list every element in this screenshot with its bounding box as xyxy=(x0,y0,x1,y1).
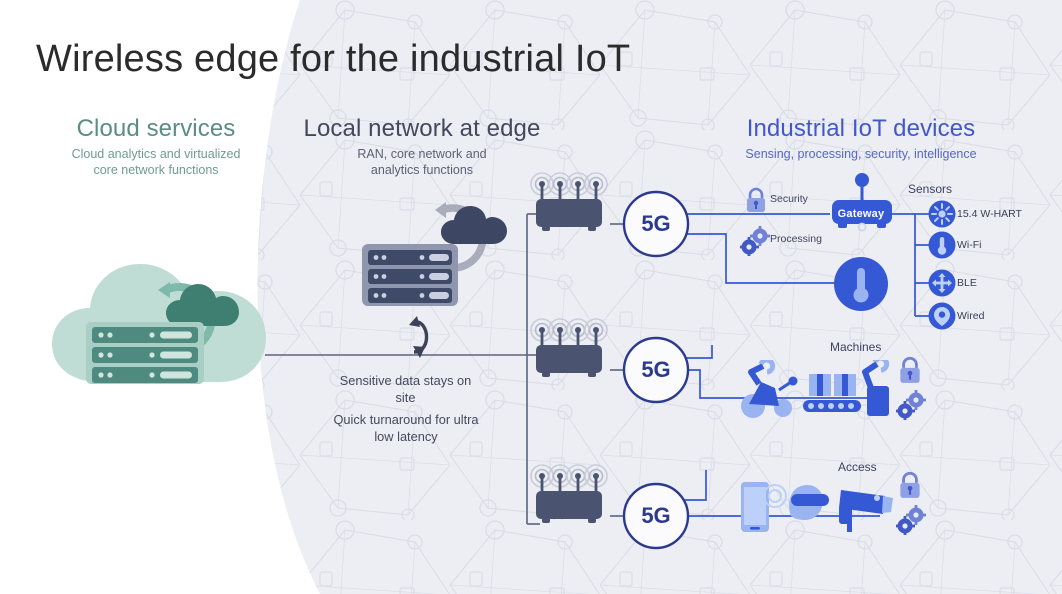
edge-server-rack xyxy=(362,244,458,306)
security-label: Security xyxy=(770,193,808,205)
cloud-services-graphic xyxy=(48,252,280,392)
security-camera-icon xyxy=(839,490,893,532)
location-pin-icon[interactable] xyxy=(928,302,956,330)
vr-headset-icon xyxy=(789,485,829,520)
group-label-sensors: Sensors xyxy=(908,182,952,196)
edge-server-graphic xyxy=(350,196,510,326)
base-station-1[interactable] xyxy=(530,172,614,234)
page-title: Wireless edge for the industrial IoT xyxy=(36,38,630,81)
base-station-3[interactable] xyxy=(530,464,614,526)
gears-icon-machines xyxy=(896,390,928,420)
radio-node-5g-1-label: 5G xyxy=(626,211,686,237)
gears-icon-access xyxy=(896,505,928,535)
conveyor-icon xyxy=(803,374,861,412)
bidirectional-arrow-icon xyxy=(404,312,450,360)
column-heading-cloud: Cloud services xyxy=(26,115,286,143)
move-arrows-icon[interactable] xyxy=(928,269,956,297)
note-low-latency: Quick turnaround for ultra low latency xyxy=(330,411,482,445)
sensor-label-3: Wired xyxy=(957,310,984,322)
antenna-signal-icons xyxy=(531,465,607,494)
gears-icon xyxy=(740,226,772,256)
group-label-access: Access xyxy=(838,460,877,474)
column-subheading-local: RAN, core network and analytics function… xyxy=(292,146,552,178)
thermometer-icon[interactable] xyxy=(928,231,956,259)
note-sensitive-data: Sensitive data stays on site xyxy=(333,372,478,406)
robot-arm-icon-2 xyxy=(865,360,889,416)
thermometer-node-icon[interactable] xyxy=(833,256,889,312)
gateway-device[interactable] xyxy=(826,172,898,234)
access-graphic[interactable] xyxy=(735,476,895,538)
diagram-canvas: 5G 5G 5G Gateway xyxy=(0,0,1062,594)
base-station-2[interactable] xyxy=(530,318,614,380)
sensor-label-1: Wi-Fi xyxy=(957,239,982,251)
radiate-icon[interactable] xyxy=(928,200,956,228)
machines-graphic[interactable] xyxy=(735,360,895,422)
robot-arm-icon xyxy=(741,360,798,418)
sensor-label-2: BLE xyxy=(957,277,977,289)
processing-label: Processing xyxy=(770,233,822,245)
column-subheading-cloud: Cloud analytics and virtualized core net… xyxy=(26,146,286,178)
column-heading-devices: Industrial IoT devices xyxy=(706,115,1016,143)
cloud-server-rack xyxy=(86,322,204,384)
gateway-label: Gateway xyxy=(833,208,889,220)
antenna-signal-icons xyxy=(531,319,607,348)
sensor-label-0: 15.4 W-HART xyxy=(957,208,1022,220)
column-subheading-devices: Sensing, processing, security, intellige… xyxy=(696,146,1026,162)
group-label-machines: Machines xyxy=(830,340,881,354)
radio-node-5g-2-label: 5G xyxy=(626,357,686,383)
lock-icon-machines xyxy=(897,355,923,385)
lock-icon xyxy=(744,186,768,214)
smartphone-icon xyxy=(741,482,786,532)
lock-icon-access xyxy=(897,470,923,500)
column-heading-local: Local network at edge xyxy=(282,115,562,143)
radio-node-5g-3-label: 5G xyxy=(626,503,686,529)
